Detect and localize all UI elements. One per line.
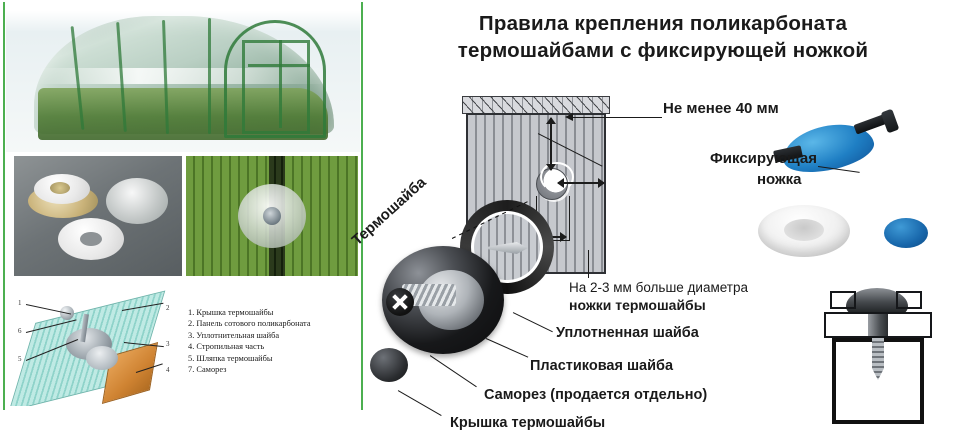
label-sealing-washer: Уплотненная шайба xyxy=(556,325,699,341)
magnified-screw xyxy=(488,242,528,254)
installed-washer-photo xyxy=(186,156,358,276)
sheet-top-edge xyxy=(462,96,610,114)
poster-root: 1 6 5 2 3 4 1. Крышка термошайбы 2. Пане… xyxy=(0,0,956,448)
label-min-gap: Не менее 40 мм xyxy=(663,100,779,117)
greenhouse-rib xyxy=(208,18,211,134)
washer-cap-part xyxy=(370,348,408,382)
cad-callout-1: 1 xyxy=(18,299,22,307)
leader-hole-size xyxy=(588,250,589,278)
cross-section-diagram xyxy=(818,288,938,428)
screw-phillips-head xyxy=(386,288,414,316)
list-item: 1. Крышка термошайбы xyxy=(188,307,358,318)
greenhouse-door xyxy=(242,40,310,134)
greenhouse-door-post xyxy=(279,40,282,128)
list-item: 7. Саморез xyxy=(188,364,358,375)
leader-min-gap xyxy=(572,117,662,118)
label-washer-cap: Крышка термошайбы xyxy=(450,415,605,431)
list-item: 4. Стропильная часть xyxy=(188,341,358,352)
washer-assembly-illustration: Термошайба xyxy=(362,196,572,406)
cad-callout-6: 6 xyxy=(18,327,22,335)
label-hole-size-line1: На 2-3 мм больше диаметра xyxy=(569,280,748,295)
greenhouse-photo xyxy=(6,2,360,152)
cad-callout-4: 4 xyxy=(166,366,170,374)
cad-callout-3: 3 xyxy=(166,340,170,348)
cad-callout-5: 5 xyxy=(18,355,22,363)
list-item: 2. Панель сотового поликарбоната xyxy=(188,318,358,329)
xsec-cell xyxy=(830,291,856,309)
arrow-min-gap xyxy=(565,113,573,121)
cad-callout-2: 2 xyxy=(166,304,170,312)
label-hole-size-line2: ножки термошайбы xyxy=(569,297,706,313)
dimension-horizontal-hole xyxy=(558,182,604,184)
page-title-line1: Правила крепления поликарбоната xyxy=(380,10,946,37)
xsec-cell xyxy=(896,291,922,309)
green-border-left xyxy=(3,2,5,410)
greenhouse-body xyxy=(24,12,344,144)
blue-cap-photo xyxy=(884,218,928,248)
label-self-tapping-screw: Саморез (продается отдельно) xyxy=(484,387,707,403)
center-eyelet xyxy=(50,182,70,194)
list-item: 3. Уплотнительная шайба xyxy=(188,330,358,341)
sheet-hatch xyxy=(463,97,609,113)
list-item: 5. Шляпка термошайбы xyxy=(188,353,358,364)
washer-parts-photo xyxy=(14,156,182,276)
clear-cap xyxy=(106,178,168,224)
foam-ring-hole xyxy=(80,232,102,246)
foam-sealing-ring-photo xyxy=(758,205,850,257)
blue-washer-screw-head xyxy=(881,109,900,134)
xsec-washer-leg xyxy=(868,314,888,336)
dimension-vertical-40mm xyxy=(550,118,552,170)
label-fixing-leg-line2: ножка xyxy=(757,171,802,188)
page-title-line2: термошайбами с фиксирующей ножкой xyxy=(380,37,946,64)
legend-list: 1. Крышка термошайбы 2. Панель сотового … xyxy=(188,307,358,375)
label-fixing-leg-line1: Фиксирующая xyxy=(710,150,817,167)
label-plastic-washer: Пластиковая шайба xyxy=(530,358,673,374)
exploded-diagram: 1 6 5 2 3 4 xyxy=(10,284,180,406)
page-title: Правила крепления поликарбоната термошай… xyxy=(380,10,946,64)
cad-sealing-washer xyxy=(86,346,118,370)
installed-screw-head xyxy=(263,207,281,225)
